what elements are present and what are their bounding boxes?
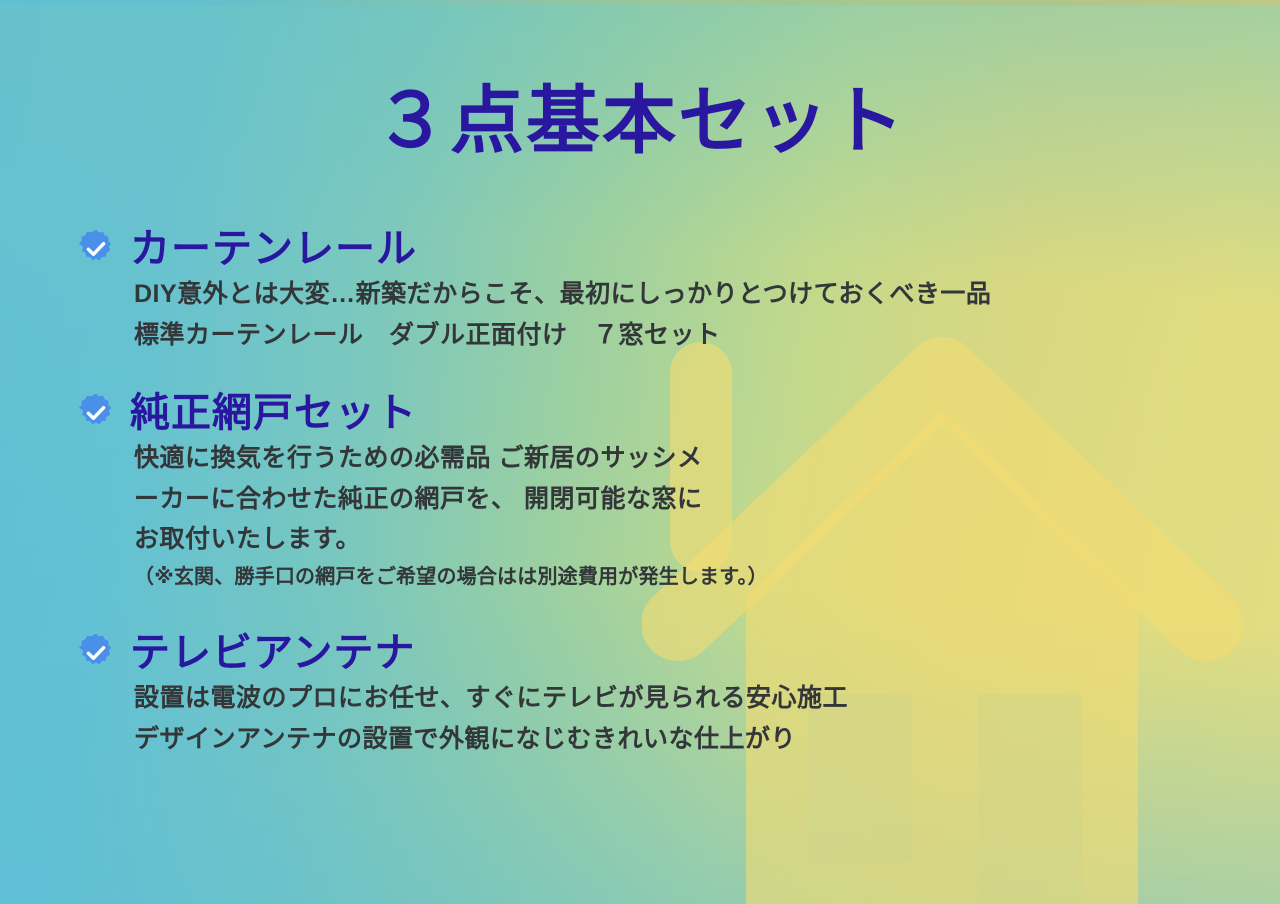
- feature-title: 純正網戸セット: [130, 390, 417, 436]
- verified-check-icon: [76, 633, 116, 673]
- feature-heading: テレビアンテナ: [76, 630, 1256, 676]
- feature-item-tv-antenna: テレビアンテナ 設置は電波のプロにお任せ、すぐにテレビが見られる安心施工 デザイ…: [76, 630, 1256, 759]
- feature-description: 設置は電波のプロにお任せ、すぐにテレビが見られる安心施工 デザインアンテナの設置…: [134, 678, 1256, 759]
- feature-description-line: ーカーに合わせた純正の網戸を、 開閉可能な窓に: [134, 479, 1256, 520]
- feature-description-line: お取付いたします。: [134, 519, 1256, 560]
- feature-note: （※玄関、勝手口の網戸をご希望の場合はは別途費用が発生します。）: [134, 562, 1256, 592]
- feature-item-screen-door: 純正網戸セット 快適に換気を行うための必需品 ご新居のサッシメ ーカーに合わせた…: [76, 390, 1256, 592]
- verified-check-icon: [76, 229, 116, 269]
- feature-description: 快適に換気を行うための必需品 ご新居のサッシメ ーカーに合わせた純正の網戸を、 …: [134, 438, 1256, 560]
- feature-title: カーテンレール: [130, 226, 417, 272]
- feature-description-line: デザインアンテナの設置で外観になじむきれいな仕上がり: [134, 719, 1256, 760]
- promotional-poster: ３点基本セット カーテンレール DIY意外とは大変…新築だからこそ、最初にしっか…: [0, 0, 1280, 904]
- feature-description-line: 快適に換気を行うための必需品 ご新居のサッシメ: [134, 438, 1256, 479]
- verified-check-icon: [76, 393, 116, 433]
- feature-description-line: DIY意外とは大変…新築だからこそ、最初にしっかりとつけておくべき一品: [134, 274, 1256, 315]
- feature-description-line: 設置は電波のプロにお任せ、すぐにテレビが見られる安心施工: [134, 678, 1256, 719]
- feature-title: テレビアンテナ: [130, 630, 415, 676]
- feature-item-curtain-rail: カーテンレール DIY意外とは大変…新築だからこそ、最初にしっかりとつけておくべ…: [76, 226, 1256, 355]
- feature-description-line: 標準カーテンレール ダブル正面付け ７窓セット: [134, 315, 1256, 356]
- feature-description: DIY意外とは大変…新築だからこそ、最初にしっかりとつけておくべき一品 標準カー…: [134, 274, 1256, 355]
- page-title: ３点基本セット: [0, 84, 1280, 158]
- feature-heading: 純正網戸セット: [76, 390, 1256, 436]
- feature-heading: カーテンレール: [76, 226, 1256, 272]
- poster-content: ３点基本セット カーテンレール DIY意外とは大変…新築だからこそ、最初にしっか…: [0, 0, 1280, 904]
